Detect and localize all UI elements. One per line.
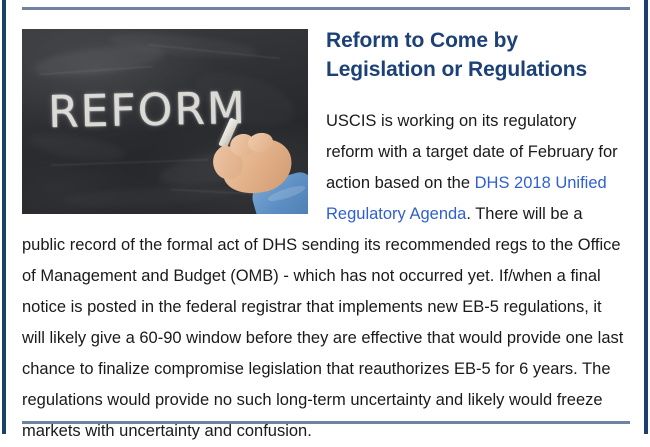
right-edge-border bbox=[644, 0, 648, 434]
paragraph-text-after-link: . There will be a public record of the f… bbox=[22, 205, 623, 440]
hand-illustration bbox=[211, 133, 308, 214]
chalk-smear bbox=[62, 184, 234, 210]
chalkboard-word: REFORM bbox=[47, 82, 247, 137]
newsletter-article: REFORM Reform to Come by Legislation or … bbox=[0, 0, 650, 434]
chalkboard-surface: REFORM bbox=[22, 29, 308, 214]
left-edge-border bbox=[2, 0, 6, 434]
top-divider-rule bbox=[22, 7, 630, 10]
chalkboard-photo: REFORM bbox=[22, 29, 308, 214]
article-content: REFORM Reform to Come by Legislation or … bbox=[22, 26, 628, 411]
